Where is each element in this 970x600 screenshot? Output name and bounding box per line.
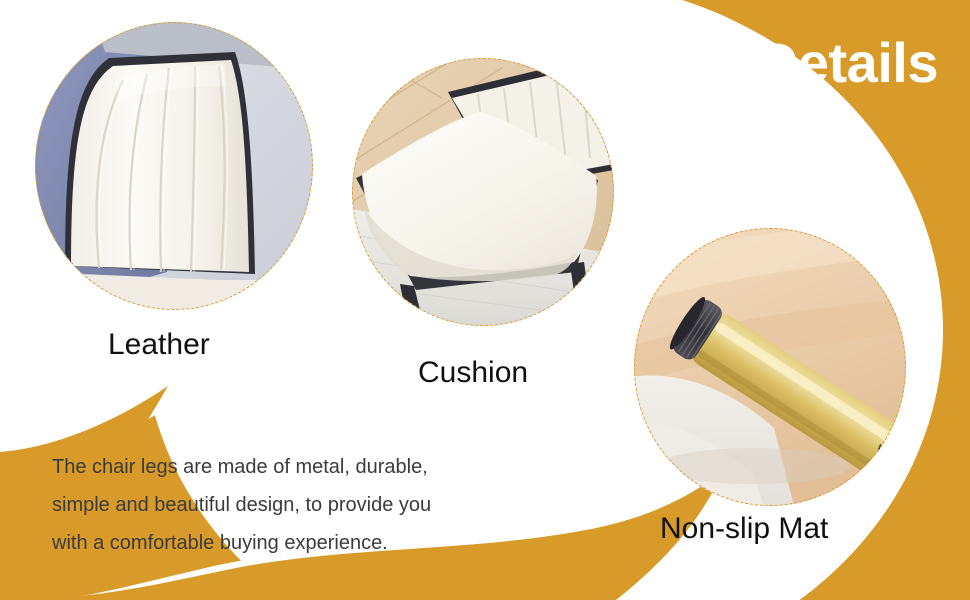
page-title: Details bbox=[758, 30, 938, 95]
feature-image-leather bbox=[35, 22, 313, 310]
feature-label-cushion: Cushion bbox=[418, 356, 528, 390]
description-line-1: The chair legs are made of metal, durabl… bbox=[52, 448, 532, 486]
non-slip-mat-photo bbox=[634, 228, 906, 506]
leather-illustration bbox=[35, 22, 313, 310]
cushion-illustration bbox=[352, 58, 614, 326]
description-line-3: with a comfortable buying experience. bbox=[52, 524, 532, 562]
feature-image-cushion bbox=[352, 58, 614, 326]
leather-photo bbox=[35, 22, 313, 310]
cushion-photo bbox=[352, 58, 614, 326]
description-paragraph: The chair legs are made of metal, durabl… bbox=[52, 448, 532, 562]
feature-label-leather: Leather bbox=[108, 328, 210, 362]
feature-label-non-slip-mat: Non-slip Mat bbox=[660, 512, 828, 546]
product-detail-infographic: Details Leather Cushion Non-slip Mat The… bbox=[0, 0, 970, 600]
feature-image-non-slip-mat bbox=[634, 228, 906, 506]
non-slip-mat-illustration bbox=[634, 228, 906, 506]
description-line-2: simple and beautiful design, to provide … bbox=[52, 486, 532, 524]
